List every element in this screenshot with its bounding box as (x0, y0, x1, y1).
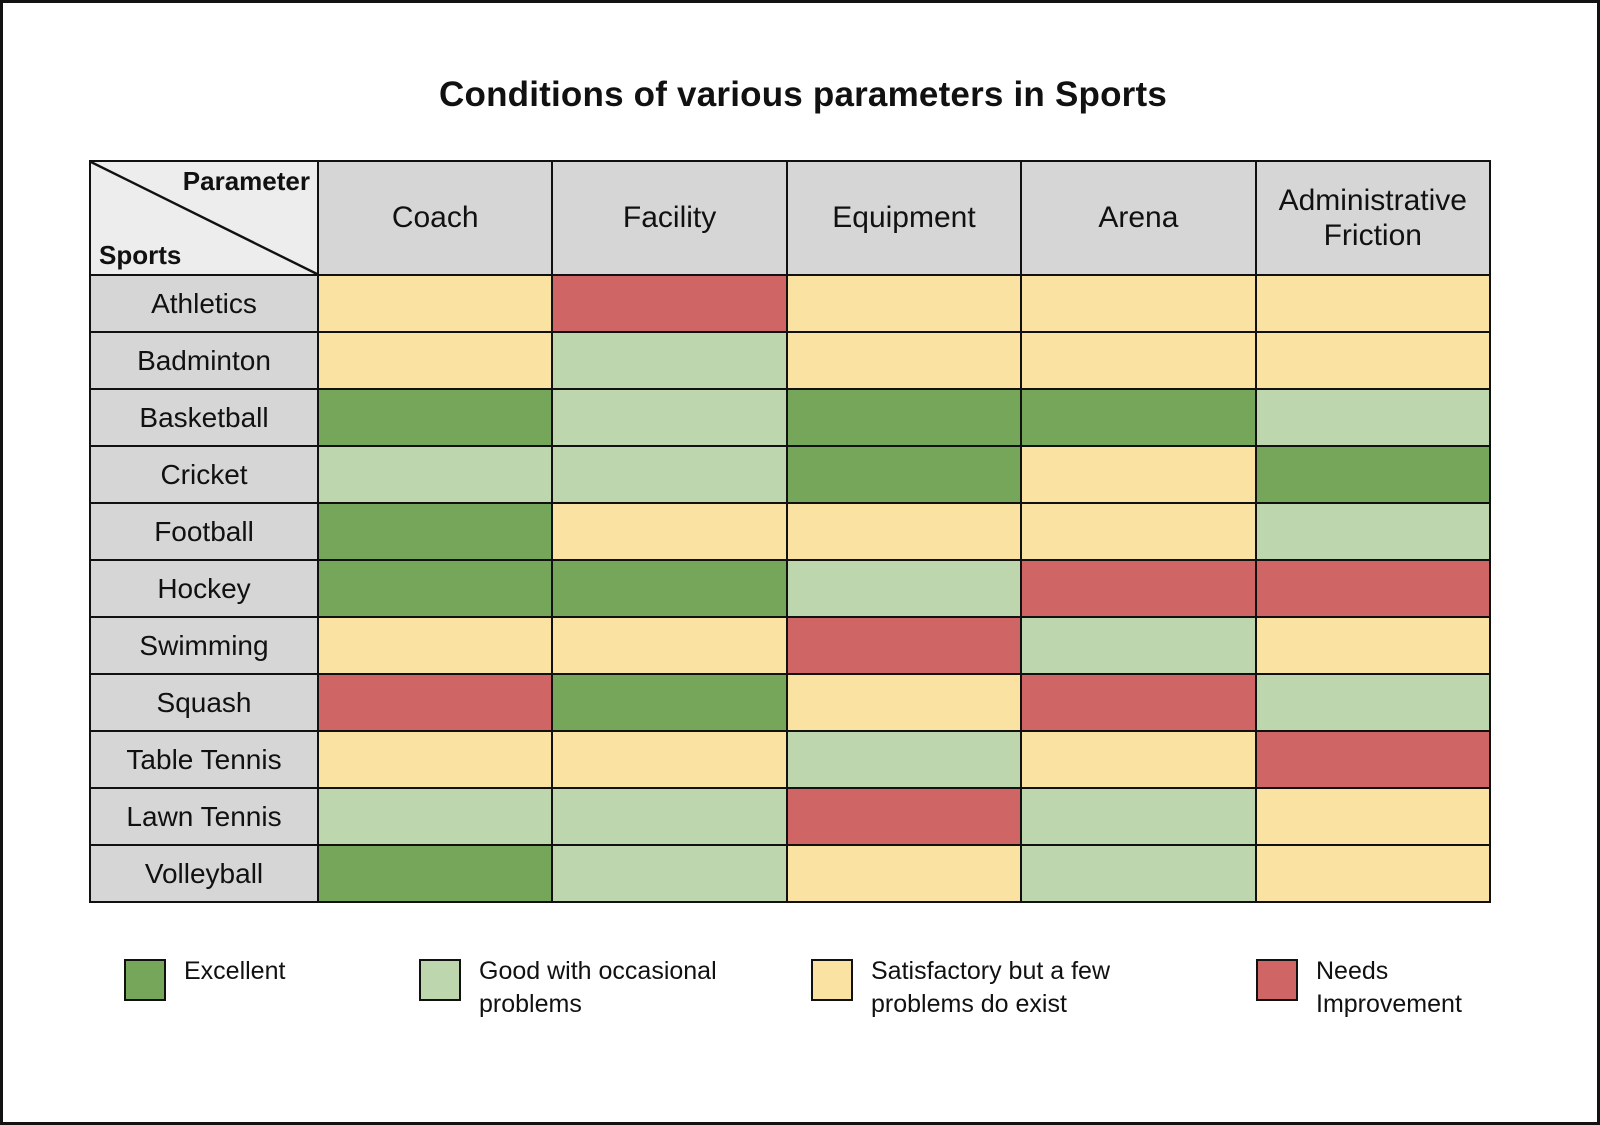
heatmap-cell (1256, 788, 1490, 845)
table-row: Lawn Tennis (90, 788, 1490, 845)
heatmap-cell (318, 674, 552, 731)
heatmap-cell (1256, 332, 1490, 389)
legend-label-excellent: Excellent (184, 955, 285, 988)
heatmap-cell (787, 275, 1021, 332)
heatmap-cell (318, 845, 552, 902)
legend-swatch-good (419, 959, 461, 1001)
table-row: Hockey (90, 560, 1490, 617)
table-row: Volleyball (90, 845, 1490, 902)
heatmap-cell (1256, 674, 1490, 731)
heatmap-cell (318, 332, 552, 389)
table-row: Swimming (90, 617, 1490, 674)
heatmap-cell (552, 788, 786, 845)
heatmap-cell (1256, 560, 1490, 617)
heatmap-cell (1021, 845, 1255, 902)
heatmap-cell (318, 275, 552, 332)
legend-item-excellent: Excellent (124, 955, 374, 1001)
heatmap-cell (787, 845, 1021, 902)
heatmap-cell (1021, 446, 1255, 503)
heatmap-cell (318, 446, 552, 503)
row-header-cricket: Cricket (90, 446, 318, 503)
heatmap-cell (1256, 389, 1490, 446)
row-header-hockey: Hockey (90, 560, 318, 617)
matrix-body: AthleticsBadmintonBasketballCricketFootb… (90, 275, 1490, 902)
row-header-basketball: Basketball (90, 389, 318, 446)
heatmap-cell (787, 446, 1021, 503)
heatmap-cell (552, 389, 786, 446)
heatmap-cell (787, 503, 1021, 560)
column-header-equipment: Equipment (787, 161, 1021, 275)
heatmap-cell (318, 560, 552, 617)
heatmap-cell (552, 617, 786, 674)
heatmap-cell (552, 275, 786, 332)
heatmap-cell (787, 332, 1021, 389)
heatmap-cell (318, 731, 552, 788)
heatmap-cell (552, 446, 786, 503)
heatmap-cell (1256, 446, 1490, 503)
heatmap-cell (1256, 617, 1490, 674)
heatmap-cell (552, 503, 786, 560)
row-axis-label: Sports (99, 241, 181, 270)
legend-label-good: Good with occasional problems (479, 955, 729, 1021)
heatmap-cell (318, 389, 552, 446)
heatmap-cell (552, 845, 786, 902)
legend-swatch-satisfactory (811, 959, 853, 1001)
heatmap-cell (787, 674, 1021, 731)
heatmap-cell (318, 503, 552, 560)
legend-swatch-excellent (124, 959, 166, 1001)
heatmap-cell (1021, 731, 1255, 788)
page-title: Conditions of various parameters in Spor… (3, 75, 1600, 115)
row-header-athletics: Athletics (90, 275, 318, 332)
heatmap-cell (1256, 503, 1490, 560)
legend-label-satisfactory: Satisfactory but a few problems do exist (871, 955, 1131, 1021)
heatmap-cell (787, 788, 1021, 845)
heatmap-cell (552, 731, 786, 788)
matrix-corner-cell: Parameter Sports (90, 161, 318, 275)
table-row: Football (90, 503, 1490, 560)
column-axis-label: Parameter (183, 167, 310, 196)
row-header-table-tennis: Table Tennis (90, 731, 318, 788)
legend-item-satisfactory: Satisfactory but a few problems do exist (811, 955, 1131, 1021)
column-header-coach: Coach (318, 161, 552, 275)
legend-item-good: Good with occasional problems (419, 955, 729, 1021)
row-header-badminton: Badminton (90, 332, 318, 389)
chart-canvas: Conditions of various parameters in Spor… (0, 0, 1600, 1125)
heatmap-cell (1021, 389, 1255, 446)
matrix-header: Parameter Sports Coach Facility Equipmen… (90, 161, 1490, 275)
row-header-swimming: Swimming (90, 617, 318, 674)
table-row: Basketball (90, 389, 1490, 446)
legend-swatch-needs-improvement (1256, 959, 1298, 1001)
heatmap-cell (1021, 617, 1255, 674)
table-row: Squash (90, 674, 1490, 731)
row-header-volleyball: Volleyball (90, 845, 318, 902)
heatmap-cell (318, 617, 552, 674)
legend-label-needs-improvement: Needs Improvement (1316, 955, 1506, 1021)
column-header-facility: Facility (552, 161, 786, 275)
legend-item-needs-improvement: Needs Improvement (1256, 955, 1506, 1021)
heatmap-cell (787, 617, 1021, 674)
heatmap-cell (1021, 332, 1255, 389)
heatmap-cell (552, 674, 786, 731)
heatmap-cell (1256, 731, 1490, 788)
heatmap-cell (552, 560, 786, 617)
heatmap-cell (787, 731, 1021, 788)
row-header-squash: Squash (90, 674, 318, 731)
row-header-football: Football (90, 503, 318, 560)
heatmap-cell (1021, 503, 1255, 560)
column-header-arena: Arena (1021, 161, 1255, 275)
column-header-administrative-friction: Administrative Friction (1256, 161, 1490, 275)
heatmap-cell (787, 389, 1021, 446)
table-row: Cricket (90, 446, 1490, 503)
table-row: Table Tennis (90, 731, 1490, 788)
heatmap-cell (1021, 788, 1255, 845)
heatmap-cell (318, 788, 552, 845)
heatmap-cell (552, 332, 786, 389)
legend: Excellent Good with occasional problems … (89, 955, 1509, 1065)
heatmap-cell (1021, 275, 1255, 332)
table-row: Badminton (90, 332, 1490, 389)
heatmap-cell (1256, 275, 1490, 332)
matrix-header-row: Parameter Sports Coach Facility Equipmen… (90, 161, 1490, 275)
heatmap-cell (787, 560, 1021, 617)
heatmap-cell (1256, 845, 1490, 902)
heatmap-cell (1021, 560, 1255, 617)
row-header-lawn-tennis: Lawn Tennis (90, 788, 318, 845)
table-row: Athletics (90, 275, 1490, 332)
heatmap-cell (1021, 674, 1255, 731)
conditions-matrix: Parameter Sports Coach Facility Equipmen… (89, 160, 1491, 903)
